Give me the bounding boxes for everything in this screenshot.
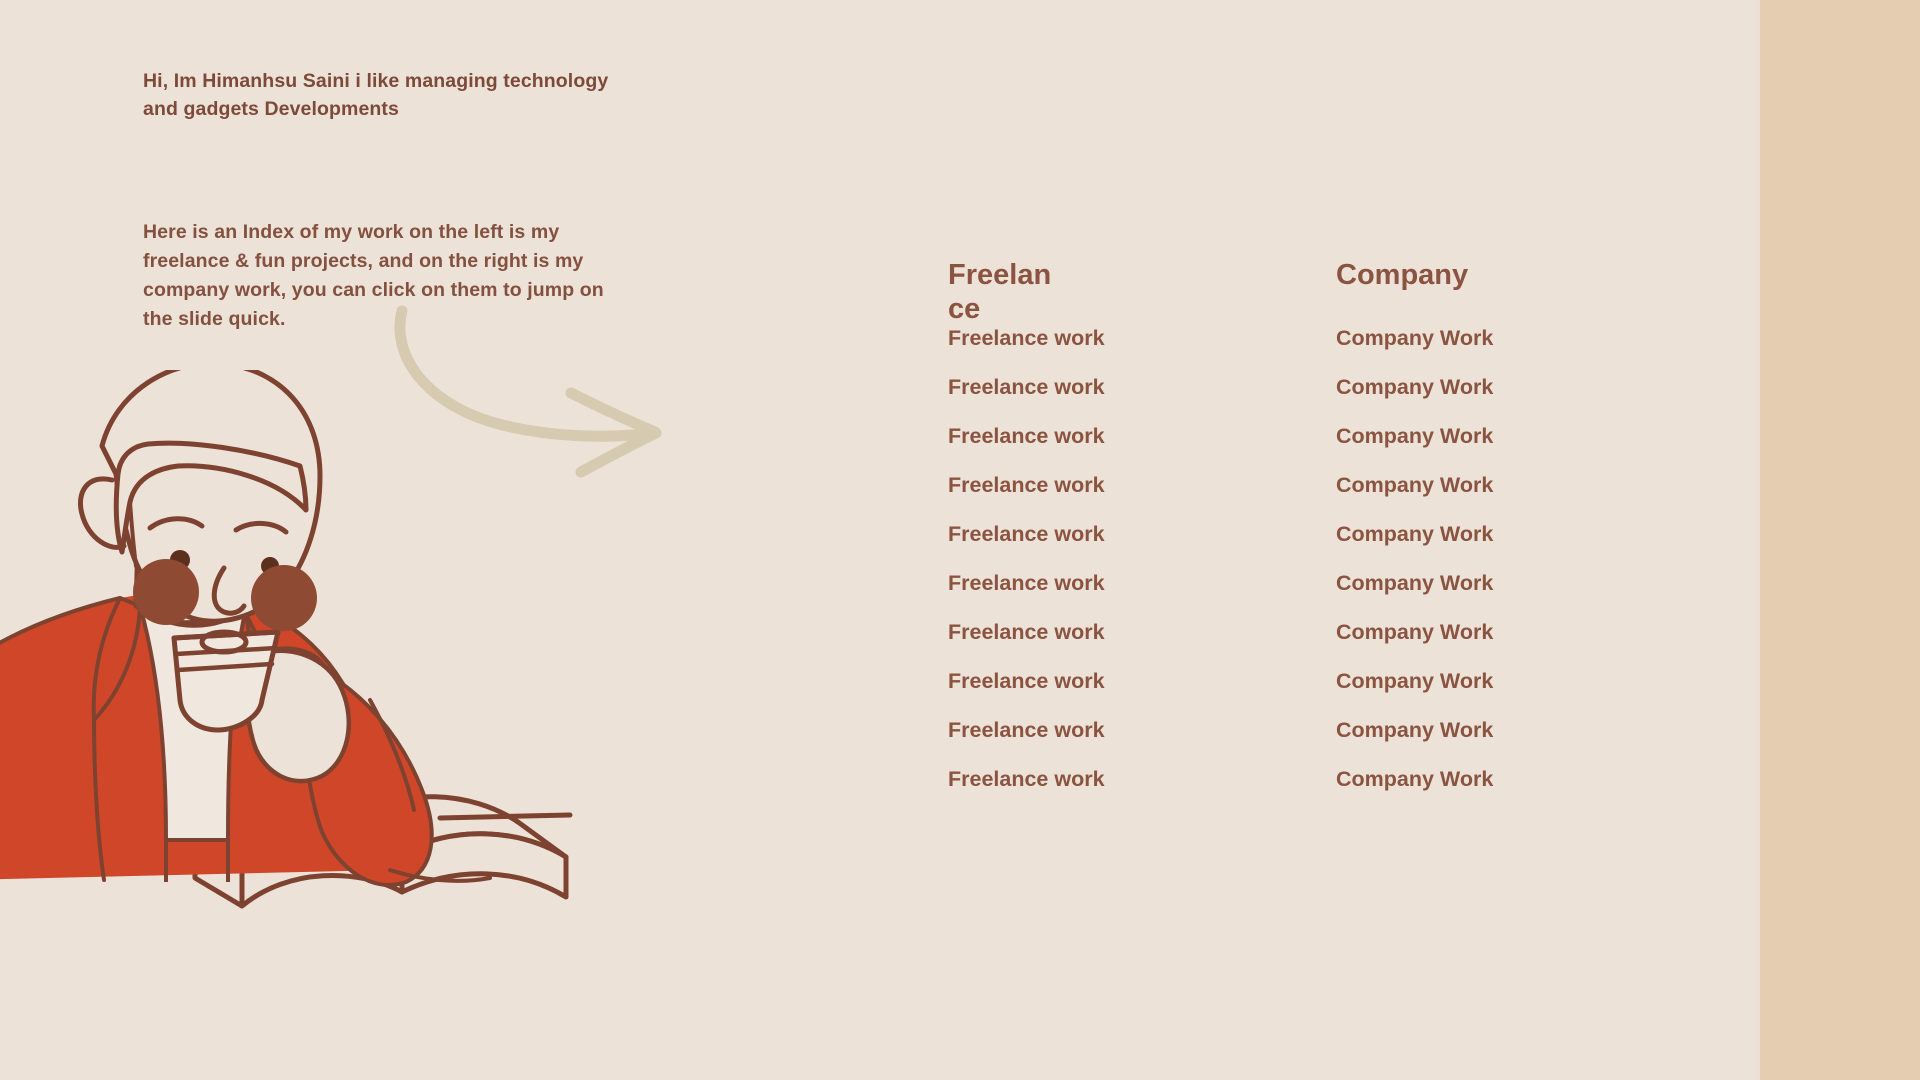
accent-band-right — [1760, 0, 1920, 1080]
list-item[interactable]: Freelance work — [948, 326, 1308, 375]
list-item[interactable]: Freelance work — [948, 767, 1308, 816]
index-note-paragraph: Here is an Index of my work on the left … — [143, 218, 653, 334]
list-item[interactable]: Company Work — [1336, 767, 1696, 816]
list-item[interactable]: Freelance work — [948, 473, 1308, 522]
list-item[interactable]: Company Work — [1336, 424, 1696, 473]
list-item[interactable]: Company Work — [1336, 326, 1696, 375]
list-item[interactable]: Freelance work — [948, 375, 1308, 424]
index-note-line-4: the slide quick. — [143, 305, 653, 334]
freelance-list: Freelance work Freelance work Freelance … — [948, 326, 1308, 816]
company-column: Company Company Work Company Work Compan… — [1336, 258, 1576, 292]
list-item[interactable]: Company Work — [1336, 473, 1696, 522]
slide-canvas: Hi, Im Himanhsu Saini i like managing te… — [0, 0, 1920, 1080]
freelance-column: Freelance Freelance work Freelance work … — [948, 258, 1060, 326]
list-item[interactable]: Freelance work — [948, 571, 1308, 620]
list-item[interactable]: Company Work — [1336, 718, 1696, 767]
list-item[interactable]: Company Work — [1336, 571, 1696, 620]
list-item[interactable]: Company Work — [1336, 620, 1696, 669]
list-item[interactable]: Company Work — [1336, 375, 1696, 424]
list-item[interactable]: Freelance work — [948, 669, 1308, 718]
intro-heading: Hi, Im Himanhsu Saini i like managing te… — [143, 67, 613, 124]
index-note-line-1: Here is an Index of my work on the left … — [143, 218, 653, 247]
list-item[interactable]: Freelance work — [948, 620, 1308, 669]
freelance-column-title: Freelance — [948, 258, 1060, 326]
list-item[interactable]: Company Work — [1336, 522, 1696, 571]
index-note-line-2: freelance & fun projects, and on the rig… — [143, 247, 653, 276]
list-item[interactable]: Freelance work — [948, 522, 1308, 571]
company-column-title: Company — [1336, 258, 1576, 292]
list-item[interactable]: Company Work — [1336, 669, 1696, 718]
company-list: Company Work Company Work Company Work C… — [1336, 326, 1696, 816]
list-item[interactable]: Freelance work — [948, 424, 1308, 473]
man-drinking-coffee-illustration — [0, 370, 690, 1080]
list-item[interactable]: Freelance work — [948, 718, 1308, 767]
index-note-line-3: company work, you can click on them to j… — [143, 276, 653, 305]
